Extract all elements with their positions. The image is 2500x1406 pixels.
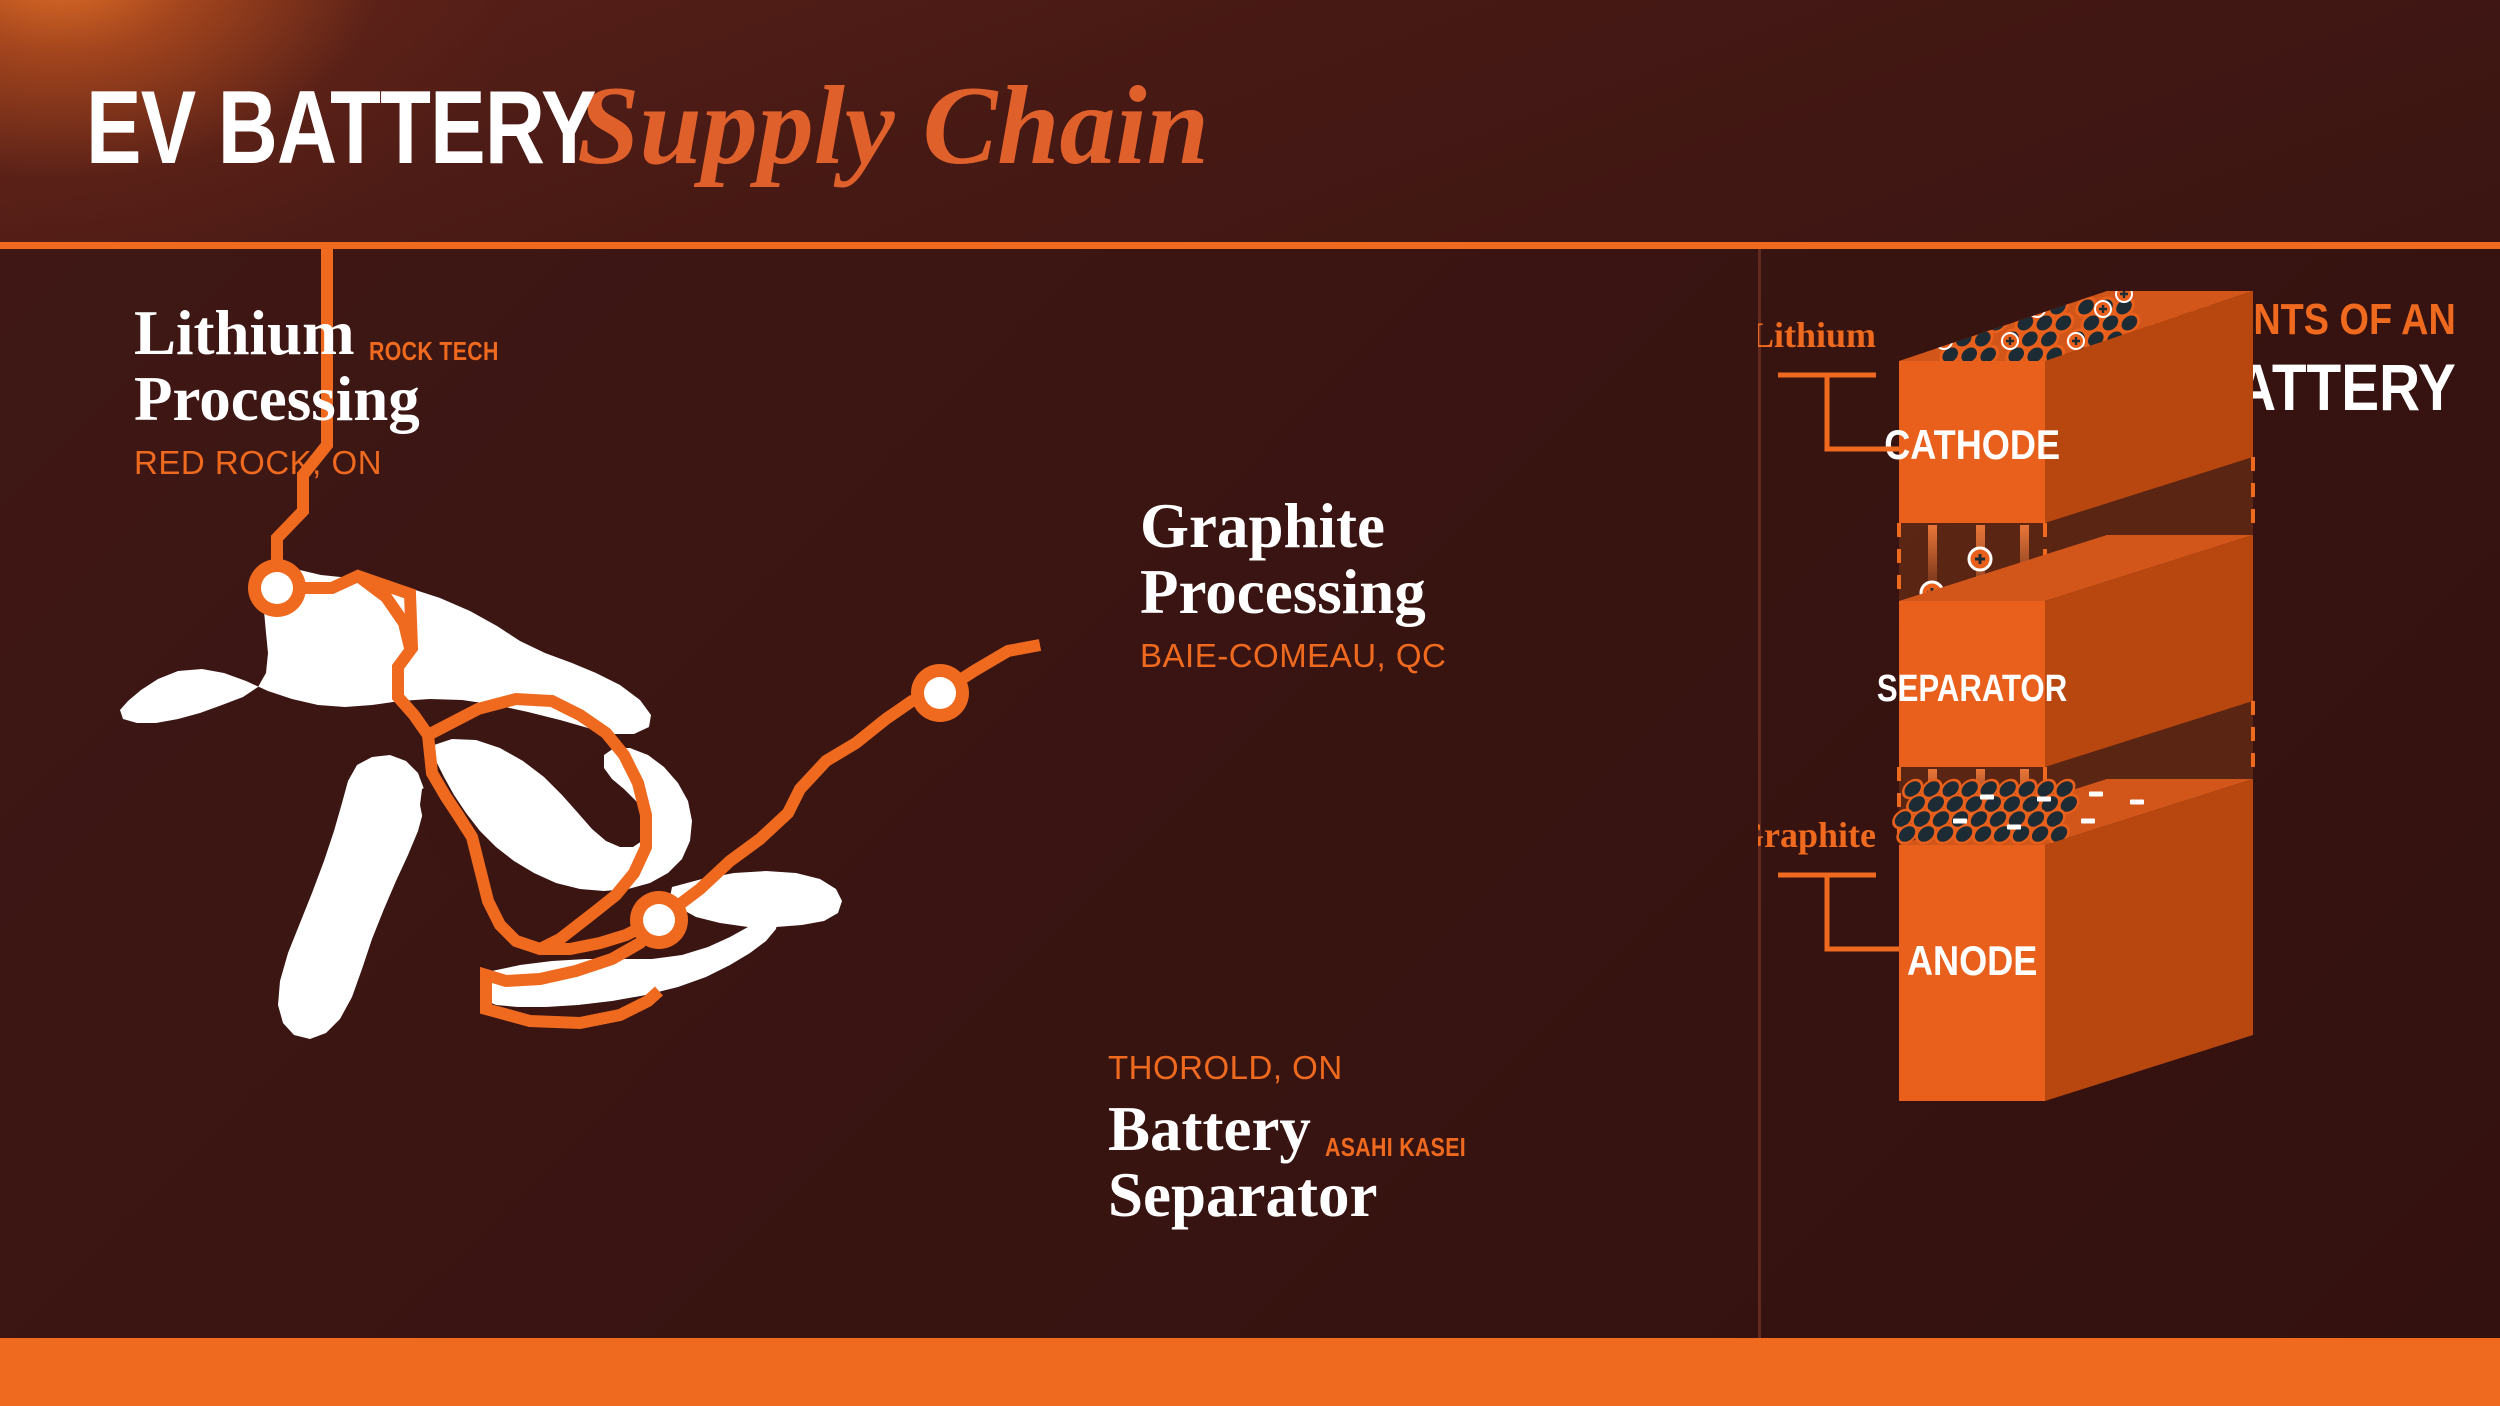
separator-city: THOROLD, ON [1108, 1049, 1497, 1087]
node-baie-comeau[interactable] [911, 664, 969, 722]
separator-line2: Separator [1108, 1163, 1497, 1229]
lithium-city: RED ROCK, ON [134, 444, 527, 482]
header-divider [0, 242, 2500, 249]
callout-graphite-label: Graphite [1758, 815, 1876, 855]
title-italic: Supply Chain [577, 62, 1209, 191]
callout-graphite: Graphite [1758, 815, 1899, 949]
label-graphite-processing: Graphite Processing BAIE-COMEAU, QC [1140, 494, 1446, 675]
callout-lithium-label: Lithium [1758, 315, 1876, 355]
lake-michigan-shape [278, 755, 424, 1039]
lithium-brand: ROCK TECH [369, 336, 499, 367]
title-bold: EV BATTERY [86, 69, 596, 188]
cathode-label: CATHODE [1884, 423, 2060, 469]
lithium-line1: Lithium [134, 301, 355, 367]
callout-graphite-connector [1778, 875, 1899, 949]
graphite-line2: Processing [1140, 560, 1446, 626]
battery-components-panel: COMPONENTS OF AN EV BATTERY [1758, 249, 2500, 1338]
graphite-line1: Graphite [1140, 494, 1446, 560]
footer-accent-bar [0, 1338, 2500, 1406]
battery-diagram: CATHODE [1758, 249, 2500, 1338]
header-banner: EV BATTERYSupply Chain [0, 0, 2500, 246]
node-red-rock[interactable] [248, 559, 306, 617]
anode-block: ANODE [1886, 779, 2253, 1101]
anode-label: ANODE [1907, 939, 2037, 985]
separator-line1: Battery [1108, 1097, 1311, 1163]
callout-lithium-connector [1778, 375, 1899, 449]
graphite-city: BAIE-COMEAU, QC [1140, 637, 1446, 675]
separator-brand: ASAHI KASEI [1325, 1132, 1466, 1163]
node-thorold[interactable] [630, 891, 688, 949]
label-lithium-processing: Lithium ROCK TECH Processing RED ROCK, O… [134, 301, 527, 482]
infographic-root: EV BATTERYSupply Chain [0, 0, 2500, 1406]
map-panel: Lithium ROCK TECH Processing RED ROCK, O… [0, 249, 1758, 1338]
label-battery-separator: THOROLD, ON Battery ASAHI KASEI Separato… [1108, 1049, 1497, 1228]
page-title: EV BATTERYSupply Chain [86, 62, 1209, 191]
lithium-line2: Processing [134, 367, 527, 433]
separator-label: SEPARATOR [1877, 668, 2067, 710]
callout-lithium: Lithium [1758, 315, 1899, 449]
